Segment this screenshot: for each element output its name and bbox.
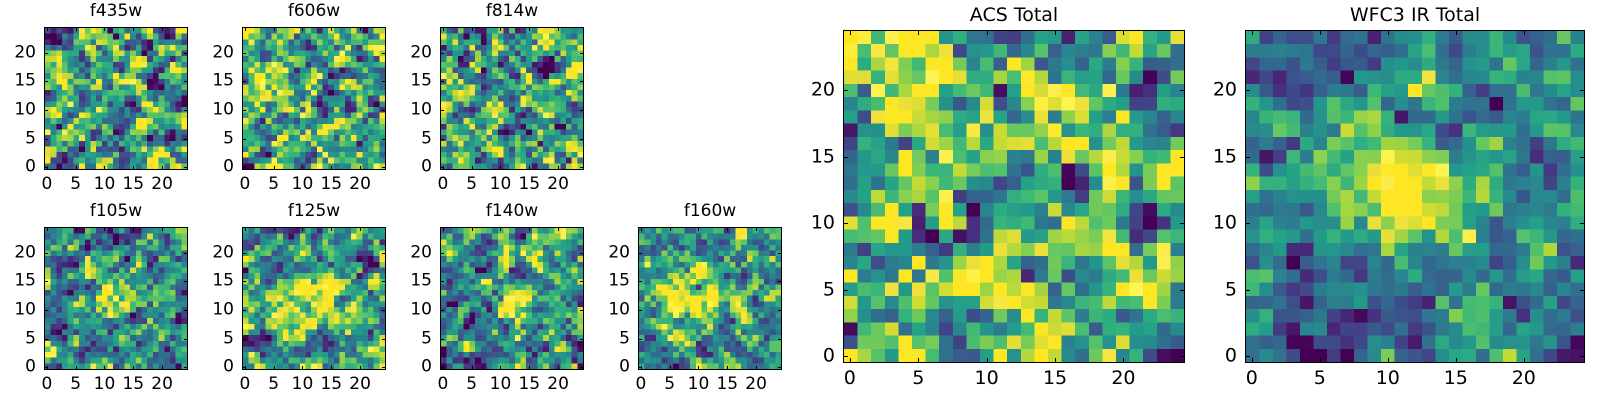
y-tick-label: 10: [0, 101, 36, 118]
x-tick-mark-top: [558, 227, 559, 231]
y-tick-mark: [44, 167, 48, 168]
x-tick-mark: [331, 166, 332, 170]
x-tick-mark: [500, 166, 501, 170]
y-tick-label: 15: [380, 73, 432, 90]
x-tick-label: 15: [320, 376, 342, 393]
x-tick-mark: [302, 366, 303, 370]
x-tick-mark-top: [47, 27, 48, 31]
x-tick-mark: [76, 166, 77, 170]
heatmap-image-f140w: [441, 228, 583, 369]
y-tick-label: 15: [0, 273, 36, 290]
x-tick-mark: [133, 366, 134, 370]
x-tick-mark: [133, 166, 134, 170]
x-tick-mark: [987, 358, 988, 363]
y-tick-label: 5: [783, 280, 835, 299]
y-tick-label: 10: [182, 101, 234, 118]
y-tick-mark: [242, 167, 246, 168]
y-tick-label: 15: [578, 273, 630, 290]
x-tick-mark: [1524, 358, 1525, 363]
x-tick-mark: [162, 166, 163, 170]
y-tick-mark: [242, 139, 246, 140]
y-tick-label: 0: [578, 359, 630, 376]
y-tick-mark: [242, 110, 246, 111]
x-tick-mark-top: [529, 27, 530, 31]
x-tick-mark-top: [987, 30, 988, 35]
panel-title-f606w: f606w: [242, 3, 386, 20]
x-tick-mark-top: [360, 227, 361, 231]
y-tick-mark: [1245, 223, 1250, 224]
x-tick-mark-top: [443, 227, 444, 231]
x-tick-mark-top: [133, 227, 134, 231]
y-tick-mark: [440, 81, 444, 82]
y-tick-mark: [638, 281, 642, 282]
panel-title-f160w: f160w: [638, 203, 782, 220]
y-tick-mark: [843, 90, 848, 91]
x-tick-label: 10: [1376, 369, 1400, 388]
y-tick-mark-right: [580, 110, 584, 111]
x-tick-mark-top: [133, 27, 134, 31]
panel-title-f125w: f125w: [242, 203, 386, 220]
y-tick-mark-right: [580, 81, 584, 82]
y-tick-mark: [440, 110, 444, 111]
heatmap-image-f435w: [45, 28, 187, 169]
y-tick-label: 0: [380, 359, 432, 376]
x-tick-mark: [472, 166, 473, 170]
heatmap-axes-f814w[interactable]: [440, 27, 584, 170]
panel-wfc3-ir-total: WFC3 IR Total0510152005101520: [1185, 4, 1585, 389]
x-tick-label: 10: [975, 369, 999, 388]
y-tick-label: 10: [1185, 214, 1237, 233]
x-tick-label: 15: [1444, 369, 1468, 388]
x-tick-mark-top: [76, 27, 77, 31]
y-tick-label: 20: [380, 244, 432, 261]
x-tick-mark-top: [1320, 30, 1321, 35]
x-tick-label: 0: [437, 376, 448, 393]
x-tick-label: 0: [844, 369, 856, 388]
y-tick-mark: [1245, 290, 1250, 291]
y-tick-mark: [44, 367, 48, 368]
x-tick-label: 10: [94, 376, 116, 393]
y-tick-mark: [242, 339, 246, 340]
y-tick-label: 5: [578, 330, 630, 347]
y-tick-label: 10: [182, 301, 234, 318]
x-tick-mark: [529, 166, 530, 170]
heatmap-axes-f125w[interactable]: [242, 227, 386, 370]
x-tick-mark-top: [472, 227, 473, 231]
y-tick-mark-right: [580, 167, 584, 168]
x-tick-mark: [1456, 358, 1457, 363]
x-tick-mark-top: [443, 27, 444, 31]
x-tick-mark: [302, 166, 303, 170]
y-tick-label: 0: [182, 159, 234, 176]
x-tick-mark: [1252, 358, 1253, 363]
x-tick-mark-top: [641, 227, 642, 231]
heatmap-image-wfc3-ir-total: [1246, 31, 1584, 362]
y-tick-mark-right: [1580, 356, 1585, 357]
y-tick-label: 5: [182, 130, 234, 147]
y-tick-label: 15: [182, 273, 234, 290]
x-tick-mark-top: [670, 227, 671, 231]
x-tick-label: 5: [268, 176, 279, 193]
y-tick-label: 0: [0, 359, 36, 376]
x-tick-label: 10: [292, 376, 314, 393]
panel-f814w: f814w0510152005101520: [380, 1, 584, 196]
panel-f606w: f606w0510152005101520: [182, 1, 386, 196]
heatmap-image-f105w: [45, 228, 187, 369]
y-tick-mark: [44, 253, 48, 254]
x-tick-label: 20: [151, 176, 173, 193]
y-tick-mark-right: [778, 253, 782, 254]
y-tick-mark: [440, 367, 444, 368]
x-tick-label: 15: [716, 376, 738, 393]
x-tick-label: 15: [518, 176, 540, 193]
x-tick-mark-top: [1388, 30, 1389, 35]
x-tick-mark: [558, 166, 559, 170]
x-tick-mark-top: [698, 227, 699, 231]
x-tick-mark-top: [1524, 30, 1525, 35]
x-tick-mark-top: [162, 27, 163, 31]
x-tick-mark-top: [1055, 30, 1056, 35]
y-tick-mark-right: [1580, 157, 1585, 158]
heatmap-axes-f606w[interactable]: [242, 27, 386, 170]
y-tick-label: 10: [0, 301, 36, 318]
x-tick-mark-top: [104, 227, 105, 231]
x-tick-mark: [500, 366, 501, 370]
y-tick-label: 0: [182, 359, 234, 376]
x-tick-label: 0: [239, 376, 250, 393]
x-tick-mark-top: [331, 227, 332, 231]
y-tick-mark: [440, 310, 444, 311]
y-tick-label: 20: [0, 44, 36, 61]
panel-title-f140w: f140w: [440, 203, 584, 220]
x-tick-label: 20: [349, 176, 371, 193]
y-tick-label: 10: [578, 301, 630, 318]
y-tick-mark: [440, 53, 444, 54]
y-tick-label: 5: [380, 130, 432, 147]
x-tick-label: 20: [745, 376, 767, 393]
heatmap-axes-f140w[interactable]: [440, 227, 584, 370]
y-tick-label: 20: [182, 244, 234, 261]
y-tick-mark: [843, 356, 848, 357]
y-tick-mark: [44, 310, 48, 311]
heatmap-image-f606w: [243, 28, 385, 169]
panel-f435w: f435w0510152005101520: [0, 1, 188, 196]
x-tick-label: 5: [70, 376, 81, 393]
x-tick-mark: [529, 366, 530, 370]
y-tick-mark: [638, 253, 642, 254]
panel-title-f435w: f435w: [44, 3, 188, 20]
x-tick-mark-top: [162, 227, 163, 231]
x-tick-mark-top: [850, 30, 851, 35]
x-tick-label: 0: [239, 176, 250, 193]
heatmap-axes-f160w[interactable]: [638, 227, 782, 370]
x-tick-label: 20: [349, 376, 371, 393]
y-tick-label: 20: [380, 44, 432, 61]
x-tick-mark-top: [302, 227, 303, 231]
x-tick-mark-top: [529, 227, 530, 231]
panel-f140w: f140w0510152005101520: [380, 201, 584, 396]
x-tick-mark-top: [302, 27, 303, 31]
panel-title-f814w: f814w: [440, 3, 584, 20]
x-tick-mark: [918, 358, 919, 363]
x-tick-mark: [1055, 358, 1056, 363]
y-tick-mark: [638, 310, 642, 311]
y-tick-mark: [242, 367, 246, 368]
x-tick-mark-top: [274, 227, 275, 231]
y-tick-mark: [843, 290, 848, 291]
y-tick-mark: [440, 281, 444, 282]
x-tick-mark: [558, 366, 559, 370]
panel-f160w: f160w0510152005101520: [578, 201, 782, 396]
y-tick-mark: [843, 223, 848, 224]
x-tick-mark-top: [500, 27, 501, 31]
y-tick-label: 10: [380, 101, 432, 118]
x-tick-label: 15: [1043, 369, 1067, 388]
x-tick-label: 15: [122, 176, 144, 193]
y-tick-mark: [242, 310, 246, 311]
y-tick-label: 15: [182, 73, 234, 90]
x-tick-label: 0: [41, 376, 52, 393]
x-tick-mark: [104, 366, 105, 370]
x-tick-label: 15: [122, 376, 144, 393]
y-tick-label: 0: [783, 347, 835, 366]
y-tick-mark: [242, 281, 246, 282]
x-tick-mark-top: [1252, 30, 1253, 35]
y-tick-label: 15: [0, 73, 36, 90]
x-tick-mark-top: [245, 27, 246, 31]
x-tick-mark: [670, 366, 671, 370]
x-tick-mark: [274, 366, 275, 370]
x-tick-label: 0: [41, 176, 52, 193]
x-tick-label: 5: [664, 376, 675, 393]
y-tick-mark: [242, 253, 246, 254]
x-tick-mark: [698, 366, 699, 370]
x-tick-mark-top: [360, 27, 361, 31]
y-tick-mark-right: [778, 310, 782, 311]
x-tick-mark-top: [274, 27, 275, 31]
x-tick-mark-top: [1456, 30, 1457, 35]
y-tick-mark: [638, 339, 642, 340]
x-tick-mark: [1320, 358, 1321, 363]
y-tick-mark: [44, 53, 48, 54]
y-tick-mark-right: [778, 281, 782, 282]
x-tick-label: 0: [1246, 369, 1258, 388]
y-tick-label: 10: [783, 214, 835, 233]
figure-canvas: f435w0510152005101520f606w05101520051015…: [0, 0, 1600, 400]
x-tick-label: 5: [466, 176, 477, 193]
x-tick-label: 5: [466, 376, 477, 393]
x-tick-label: 0: [635, 376, 646, 393]
y-tick-mark: [440, 139, 444, 140]
x-tick-label: 20: [547, 176, 569, 193]
x-tick-label: 10: [292, 176, 314, 193]
panel-acs-total: ACS Total0510152005101520: [783, 4, 1185, 389]
y-tick-mark-right: [580, 53, 584, 54]
y-tick-label: 20: [1185, 80, 1237, 99]
y-tick-label: 15: [783, 147, 835, 166]
y-tick-mark: [242, 53, 246, 54]
y-tick-mark: [44, 339, 48, 340]
y-tick-mark-right: [1580, 223, 1585, 224]
x-tick-mark: [1388, 358, 1389, 363]
y-tick-mark: [1245, 157, 1250, 158]
x-tick-mark: [360, 366, 361, 370]
y-tick-mark-right: [778, 367, 782, 368]
heatmap-axes-wfc3-ir-total[interactable]: [1245, 30, 1585, 363]
y-tick-mark-right: [1580, 90, 1585, 91]
y-tick-label: 0: [380, 159, 432, 176]
y-tick-mark: [1245, 90, 1250, 91]
x-tick-label: 5: [70, 176, 81, 193]
x-tick-mark-top: [245, 227, 246, 231]
x-tick-mark-top: [558, 27, 559, 31]
y-tick-label: 5: [1185, 280, 1237, 299]
y-tick-label: 15: [380, 273, 432, 290]
panel-title-wfc3-ir-total: WFC3 IR Total: [1245, 6, 1585, 25]
heatmap-axes-f435w[interactable]: [44, 27, 188, 170]
y-tick-mark: [44, 281, 48, 282]
x-tick-mark: [727, 366, 728, 370]
y-tick-label: 5: [0, 330, 36, 347]
x-tick-mark: [850, 358, 851, 363]
x-tick-label: 20: [547, 376, 569, 393]
x-tick-label: 20: [151, 376, 173, 393]
x-tick-mark-top: [727, 227, 728, 231]
y-tick-mark-right: [580, 139, 584, 140]
y-tick-mark: [44, 110, 48, 111]
x-tick-label: 20: [1512, 369, 1536, 388]
heatmap-image-f125w: [243, 228, 385, 369]
heatmap-axes-f105w[interactable]: [44, 227, 188, 370]
panel-title-acs-total: ACS Total: [843, 6, 1185, 25]
x-tick-label: 10: [94, 176, 116, 193]
y-tick-label: 20: [182, 44, 234, 61]
panel-f125w: f125w0510152005101520: [182, 201, 386, 396]
x-tick-label: 15: [518, 376, 540, 393]
heatmap-image-acs-total: [844, 31, 1184, 362]
y-tick-label: 5: [380, 330, 432, 347]
heatmap-image-f814w: [441, 28, 583, 169]
x-tick-mark-top: [104, 27, 105, 31]
x-tick-label: 10: [688, 376, 710, 393]
y-tick-mark-right: [778, 339, 782, 340]
heatmap-axes-acs-total[interactable]: [843, 30, 1185, 363]
x-tick-mark-top: [472, 27, 473, 31]
y-tick-label: 10: [380, 301, 432, 318]
y-tick-mark: [440, 253, 444, 254]
x-tick-mark: [360, 166, 361, 170]
y-tick-mark: [44, 81, 48, 82]
y-tick-label: 0: [1185, 347, 1237, 366]
y-tick-label: 20: [783, 80, 835, 99]
y-tick-label: 15: [1185, 147, 1237, 166]
y-tick-mark: [440, 339, 444, 340]
y-tick-mark: [843, 157, 848, 158]
y-tick-mark: [440, 167, 444, 168]
x-tick-mark: [756, 366, 757, 370]
x-tick-label: 5: [912, 369, 924, 388]
x-tick-mark: [274, 166, 275, 170]
y-tick-label: 5: [182, 330, 234, 347]
x-tick-mark-top: [47, 227, 48, 231]
x-tick-label: 15: [320, 176, 342, 193]
y-tick-label: 0: [0, 159, 36, 176]
y-tick-mark: [1245, 356, 1250, 357]
y-tick-mark: [242, 81, 246, 82]
x-tick-mark-top: [756, 227, 757, 231]
x-tick-mark: [76, 366, 77, 370]
x-tick-mark: [331, 366, 332, 370]
x-tick-mark-top: [500, 227, 501, 231]
y-tick-mark: [44, 139, 48, 140]
panel-f105w: f105w0510152005101520: [0, 201, 188, 396]
x-tick-mark-top: [1123, 30, 1124, 35]
x-tick-mark-top: [331, 27, 332, 31]
x-tick-mark-top: [918, 30, 919, 35]
x-tick-label: 5: [1314, 369, 1326, 388]
y-tick-mark: [638, 367, 642, 368]
x-tick-label: 10: [490, 376, 512, 393]
x-tick-label: 20: [1111, 369, 1135, 388]
y-tick-label: 20: [578, 244, 630, 261]
x-tick-mark: [1123, 358, 1124, 363]
x-tick-mark-top: [76, 227, 77, 231]
x-tick-mark: [162, 366, 163, 370]
y-tick-label: 5: [0, 130, 36, 147]
x-tick-mark: [472, 366, 473, 370]
x-tick-label: 5: [268, 376, 279, 393]
x-tick-label: 10: [490, 176, 512, 193]
y-tick-mark-right: [1580, 290, 1585, 291]
x-tick-mark: [104, 166, 105, 170]
heatmap-image-f160w: [639, 228, 781, 369]
x-tick-label: 0: [437, 176, 448, 193]
y-tick-label: 20: [0, 244, 36, 261]
panel-title-f105w: f105w: [44, 203, 188, 220]
